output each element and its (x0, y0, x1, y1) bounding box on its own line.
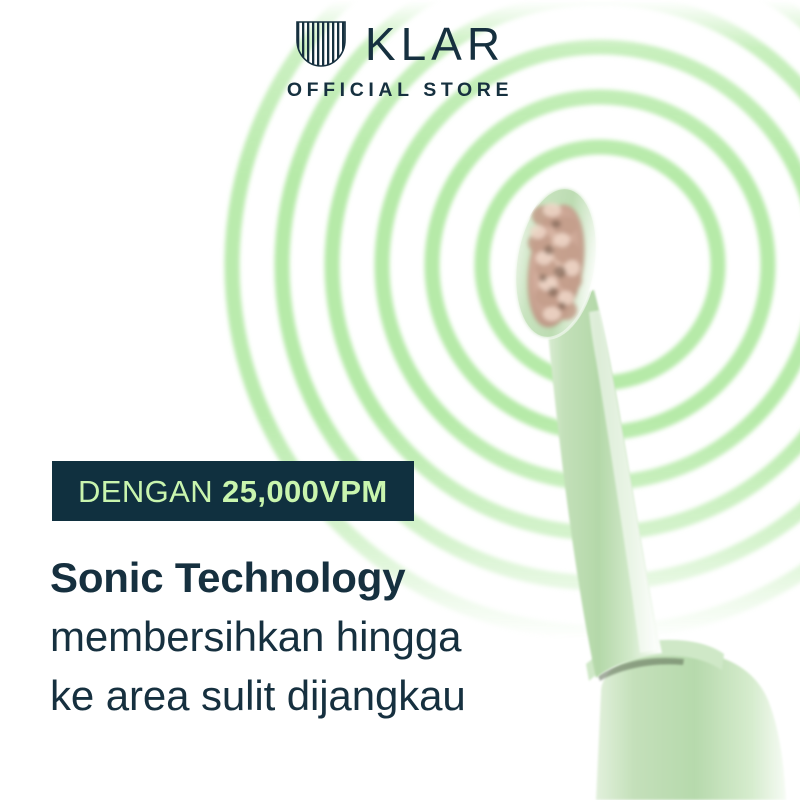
vpm-highlight-banner: DENGAN 25,000VPM (52, 461, 414, 521)
headline-line-1: Sonic Technology (50, 548, 590, 607)
klar-bristle-shield-icon (295, 20, 347, 68)
headline-line-2: membersihkan hingga (50, 607, 590, 666)
vpm-value-label: 25,000VPM (222, 474, 388, 509)
brand-logo-block: KLAR OFFICIAL STORE (0, 18, 800, 102)
brand-tagline: OFFICIAL STORE (0, 79, 800, 102)
vpm-banner-text: DENGAN 25,000VPM (78, 476, 388, 507)
vpm-prefix-label: DENGAN (78, 474, 213, 509)
brand-wordmark: KLAR (365, 21, 505, 67)
headline-block: Sonic Technology membersihkan hingga ke … (50, 548, 590, 725)
headline-line-3: ke area sulit dijangkau (50, 666, 590, 725)
product-banner-canvas: KLAR OFFICIAL STORE DENGAN 25,000VPM Son… (0, 0, 800, 800)
